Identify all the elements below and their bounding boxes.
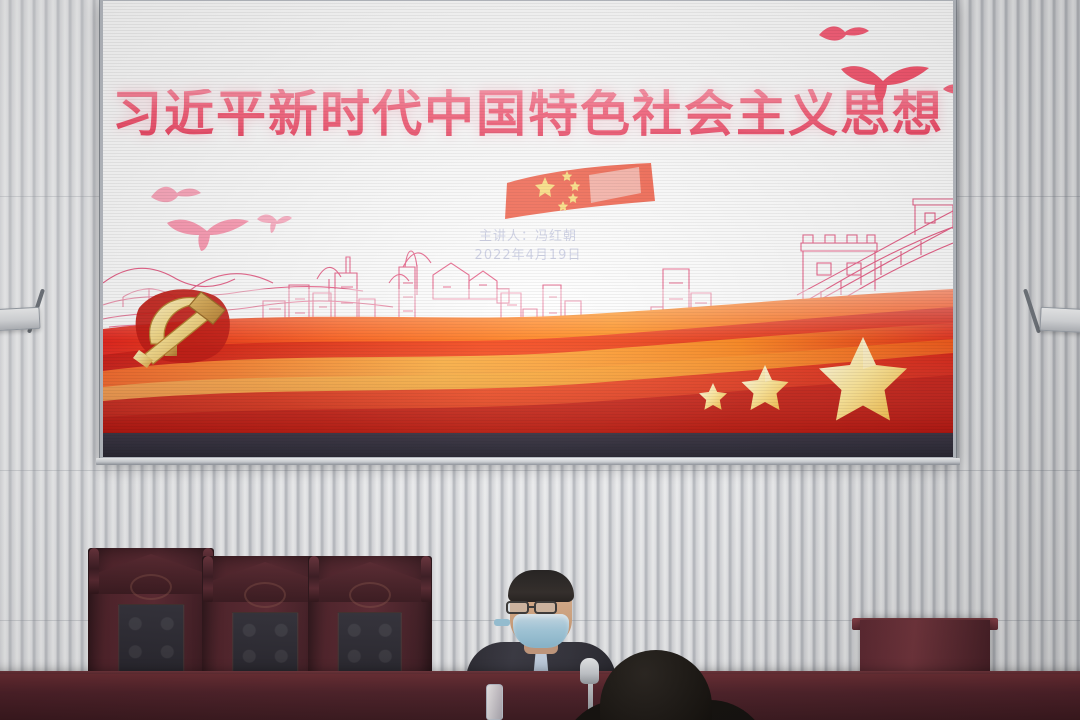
face-mask [513,614,569,648]
peace-dove-icon [839,59,931,105]
cpc-emblem-icon [115,262,255,382]
gold-stars-group [695,319,945,429]
table-microphone [580,658,599,684]
peace-dove-icon [145,181,205,215]
peace-dove-icon [941,79,953,107]
chair-finial-icon [421,556,431,602]
water-bottle [486,684,503,720]
conference-hall-scene: 习近平新时代中国特色社会主义思想 主讲人：冯红朝 2022年4月19日 [0,0,1080,720]
speaker-hair [508,570,574,602]
glasses-lens-right [534,601,557,614]
led-screen-frame: 习近平新时代中国特色社会主义思想 主讲人：冯红朝 2022年4月19日 [100,0,956,460]
wall-speaker-right [1039,307,1080,334]
led-inactive-band [103,433,953,457]
mask-ear-loop [494,619,510,626]
chair-finial-icon [309,556,319,602]
chair-medallion [130,574,172,600]
wall-speaker-left [0,307,41,331]
slide-title: 习近平新时代中国特色社会主义思想 [103,89,953,139]
glasses-bridge [529,606,536,608]
peace-dove-icon [165,211,251,253]
chair-medallion [244,582,286,608]
prc-flag-icon [501,161,659,221]
glasses-lens-left [506,601,529,614]
rostrum-desk [0,674,1080,720]
wall-seam [0,470,1080,471]
peace-dove-icon [815,21,871,53]
chair-finial-icon [203,556,213,602]
chair-finial-icon [89,548,99,594]
chair-medallion [349,582,391,608]
peace-dove-icon [255,209,293,235]
led-screen-surface[interactable]: 习近平新时代中国特色社会主义思想 主讲人：冯红朝 2022年4月19日 [103,1,953,457]
